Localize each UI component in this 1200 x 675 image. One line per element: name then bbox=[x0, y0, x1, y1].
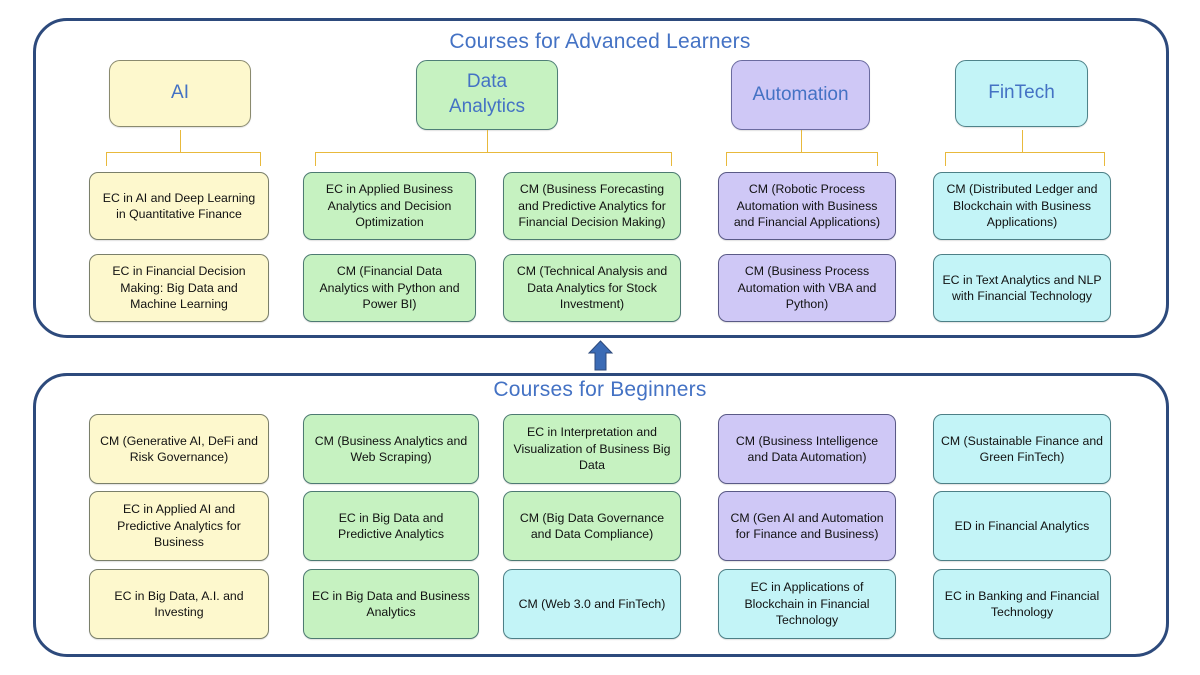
advanced-course-label: CM (Technical Analysis and Data Analytic… bbox=[511, 263, 673, 312]
diagram-root: Courses for Advanced Learners AI Data An… bbox=[0, 0, 1200, 675]
connector-ai bbox=[90, 130, 280, 172]
advanced-course-box[interactable]: CM (Distributed Ledger and Blockchain wi… bbox=[933, 172, 1111, 240]
advanced-course-label: CM (Robotic Process Automation with Busi… bbox=[726, 181, 888, 230]
connector-fintech bbox=[935, 130, 1115, 172]
beginner-course-label: EC in Banking and Financial Technology bbox=[941, 588, 1103, 621]
beginner-course-label: EC in Big Data, A.I. and Investing bbox=[97, 588, 261, 621]
beginner-course-label: CM (Generative AI, DeFi and Risk Governa… bbox=[97, 433, 261, 466]
advanced-course-box[interactable]: CM (Financial Data Analytics with Python… bbox=[303, 254, 476, 322]
beginner-course-box[interactable]: CM (Gen AI and Automation for Finance an… bbox=[718, 491, 896, 561]
beginner-course-box[interactable]: EC in Applied AI and Predictive Analytic… bbox=[89, 491, 269, 561]
advanced-course-label: EC in Applied Business Analytics and Dec… bbox=[311, 181, 468, 230]
advanced-course-box[interactable]: EC in Applied Business Analytics and Dec… bbox=[303, 172, 476, 240]
beginner-course-box[interactable]: EC in Big Data and Predictive Analytics bbox=[303, 491, 479, 561]
beginner-course-label: EC in Applied AI and Predictive Analytic… bbox=[97, 501, 261, 550]
category-automation[interactable]: Automation bbox=[731, 60, 870, 130]
beginner-course-label: CM (Web 3.0 and FinTech) bbox=[511, 596, 673, 612]
advanced-course-box[interactable]: CM (Business Forecasting and Predictive … bbox=[503, 172, 681, 240]
category-ai-label: AI bbox=[117, 81, 243, 106]
connector-data-analytics bbox=[305, 130, 680, 172]
beginner-course-box[interactable]: CM (Big Data Governance and Data Complia… bbox=[503, 491, 681, 561]
category-fintech[interactable]: FinTech bbox=[955, 60, 1088, 127]
beginner-course-label: CM (Business Analytics and Web Scraping) bbox=[311, 433, 471, 466]
beginner-course-box[interactable]: EC in Banking and Financial Technology bbox=[933, 569, 1111, 639]
category-automation-label: Automation bbox=[739, 83, 862, 108]
category-data-analytics[interactable]: Data Analytics bbox=[416, 60, 558, 130]
advanced-course-label: CM (Business Process Automation with VBA… bbox=[726, 263, 888, 312]
beginner-course-label: EC in Applications of Blockchain in Fina… bbox=[726, 579, 888, 628]
category-fintech-label: FinTech bbox=[963, 81, 1080, 106]
beginner-course-label: CM (Business Intelligence and Data Autom… bbox=[726, 433, 888, 466]
advanced-course-label: EC in AI and Deep Learning in Quantitati… bbox=[97, 190, 261, 223]
beginner-course-label: CM (Sustainable Finance and Green FinTec… bbox=[941, 433, 1103, 466]
beginner-course-label: EC in Interpretation and Visualization o… bbox=[511, 424, 673, 473]
up-arrow-icon bbox=[587, 340, 614, 371]
beginner-course-box[interactable]: EC in Big Data, A.I. and Investing bbox=[89, 569, 269, 639]
beginner-section-title: Courses for Beginners bbox=[0, 378, 1200, 402]
connector-automation bbox=[712, 130, 892, 172]
beginner-course-box[interactable]: ED in Financial Analytics bbox=[933, 491, 1111, 561]
beginner-course-box[interactable]: CM (Business Analytics and Web Scraping) bbox=[303, 414, 479, 484]
beginner-course-label: EC in Big Data and Predictive Analytics bbox=[311, 510, 471, 543]
advanced-course-label: CM (Business Forecasting and Predictive … bbox=[511, 181, 673, 230]
advanced-course-box[interactable]: EC in Text Analytics and NLP with Financ… bbox=[933, 254, 1111, 322]
beginner-course-label: ED in Financial Analytics bbox=[941, 518, 1103, 534]
category-data-analytics-label: Data Analytics bbox=[424, 70, 550, 119]
advanced-course-box[interactable]: EC in Financial Decision Making: Big Dat… bbox=[89, 254, 269, 322]
advanced-course-box[interactable]: EC in AI and Deep Learning in Quantitati… bbox=[89, 172, 269, 240]
beginner-course-label: CM (Big Data Governance and Data Complia… bbox=[511, 510, 673, 543]
beginner-course-box[interactable]: EC in Interpretation and Visualization o… bbox=[503, 414, 681, 484]
advanced-course-box[interactable]: CM (Technical Analysis and Data Analytic… bbox=[503, 254, 681, 322]
beginner-course-label: EC in Big Data and Business Analytics bbox=[311, 588, 471, 621]
beginner-course-box[interactable]: CM (Business Intelligence and Data Autom… bbox=[718, 414, 896, 484]
advanced-course-label: EC in Financial Decision Making: Big Dat… bbox=[97, 263, 261, 312]
beginner-course-label: CM (Gen AI and Automation for Finance an… bbox=[726, 510, 888, 543]
beginner-course-box[interactable]: EC in Big Data and Business Analytics bbox=[303, 569, 479, 639]
advanced-course-label: EC in Text Analytics and NLP with Financ… bbox=[941, 272, 1103, 305]
advanced-course-box[interactable]: CM (Robotic Process Automation with Busi… bbox=[718, 172, 896, 240]
advanced-section-title: Courses for Advanced Learners bbox=[0, 30, 1200, 54]
advanced-course-label: CM (Financial Data Analytics with Python… bbox=[311, 263, 468, 312]
advanced-course-label: CM (Distributed Ledger and Blockchain wi… bbox=[941, 181, 1103, 230]
beginner-course-box[interactable]: EC in Applications of Blockchain in Fina… bbox=[718, 569, 896, 639]
category-ai[interactable]: AI bbox=[109, 60, 251, 127]
beginner-course-box[interactable]: CM (Sustainable Finance and Green FinTec… bbox=[933, 414, 1111, 484]
beginner-course-box[interactable]: CM (Generative AI, DeFi and Risk Governa… bbox=[89, 414, 269, 484]
beginner-course-box[interactable]: CM (Web 3.0 and FinTech) bbox=[503, 569, 681, 639]
advanced-course-box[interactable]: CM (Business Process Automation with VBA… bbox=[718, 254, 896, 322]
